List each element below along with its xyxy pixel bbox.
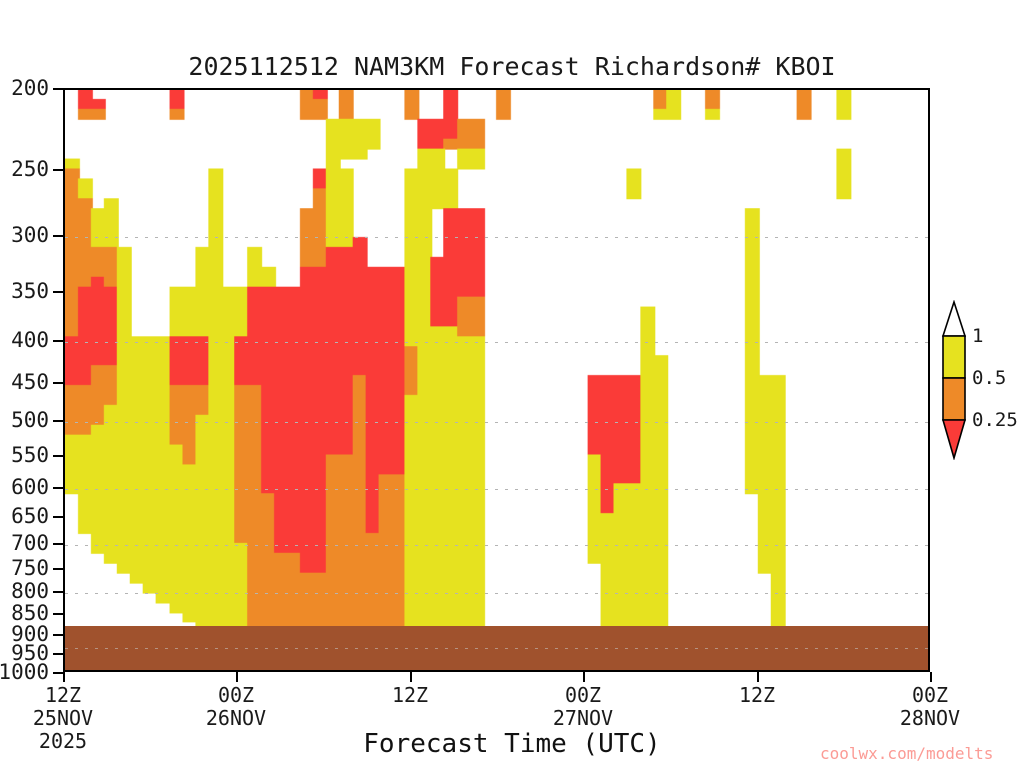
colorbar-under-arrow: [943, 420, 965, 458]
y-tick-label-1000: 1000: [0, 660, 49, 684]
y-tick-label-400: 400: [11, 328, 49, 352]
colorbar-label-0_25: 0.25: [972, 409, 1018, 431]
x-tick-5: [930, 672, 932, 682]
x-tick-time-0: 12Z: [33, 684, 93, 707]
x-tick-date-0: 25NOV: [33, 707, 93, 730]
y-tick-1000: [53, 672, 63, 674]
colorbar-svg: [941, 300, 967, 460]
colorbar-over-arrow: [943, 302, 965, 336]
y-tick-label-700: 700: [11, 531, 49, 555]
gridline-700: [65, 545, 928, 546]
y-tick-label-600: 600: [11, 475, 49, 499]
y-tick-label-800: 800: [11, 579, 49, 603]
chart-canvas: 2025112512 NAM3KM Forecast Richardson# K…: [0, 0, 1024, 768]
x-tick-label-1: 00Z26NOV: [206, 684, 266, 730]
colorbar-label-0_5: 0.5: [972, 367, 1006, 389]
gridline-400: [65, 342, 928, 343]
x-tick-4: [757, 672, 759, 682]
x-tick-time-5: 00Z: [900, 684, 960, 707]
gridline-800: [65, 593, 928, 594]
x-tick-label-3: 00Z27NOV: [553, 684, 613, 730]
x-tick-time-1: 00Z: [206, 684, 266, 707]
richardson-heatmap: [65, 90, 928, 670]
colorbar-label-1: 1: [972, 325, 983, 347]
x-tick-1: [236, 672, 238, 682]
x-tick-date-3: 27NOV: [553, 707, 613, 730]
x-tick-2: [410, 672, 412, 682]
colorbar: [941, 300, 967, 460]
y-tick-label-550: 550: [11, 443, 49, 467]
x-tick-time-3: 00Z: [553, 684, 613, 707]
gridline-300: [65, 237, 928, 238]
x-tick-label-2: 12Z: [392, 684, 428, 707]
gridline-500: [65, 422, 928, 423]
x-axis-ticks: [63, 672, 930, 682]
y-tick-label-350: 350: [11, 279, 49, 303]
colorbar-tick-labels: 10.50.25: [968, 300, 1024, 470]
y-tick-label-750: 750: [11, 556, 49, 580]
y-tick-label-650: 650: [11, 504, 49, 528]
y-tick-label-500: 500: [11, 408, 49, 432]
gridline-600: [65, 489, 928, 490]
terrain-block: [65, 626, 928, 670]
terrain-gridline: [65, 648, 928, 649]
colorbar-band-orange: [943, 378, 965, 420]
x-tick-label-4: 12Z: [739, 684, 775, 707]
x-tick-date-5: 28NOV: [900, 707, 960, 730]
y-tick-label-250: 250: [11, 157, 49, 181]
y-tick-label-200: 200: [11, 76, 49, 100]
y-tick-label-300: 300: [11, 223, 49, 247]
x-tick-time-4: 12Z: [739, 684, 775, 707]
y-tick-label-450: 450: [11, 370, 49, 394]
x-tick-label-5: 00Z28NOV: [900, 684, 960, 730]
chart-title: 2025112512 NAM3KM Forecast Richardson# K…: [0, 52, 1024, 81]
y-axis-labels: 2002503003504004505005506006507007508008…: [0, 88, 63, 672]
plot-area: [63, 88, 930, 672]
x-tick-0: [63, 672, 65, 682]
x-tick-date-1: 26NOV: [206, 707, 266, 730]
x-tick-3: [583, 672, 585, 682]
site-watermark: coolwx.com/modelts: [820, 744, 993, 763]
colorbar-band-yellow: [943, 336, 965, 378]
x-tick-time-2: 12Z: [392, 684, 428, 707]
